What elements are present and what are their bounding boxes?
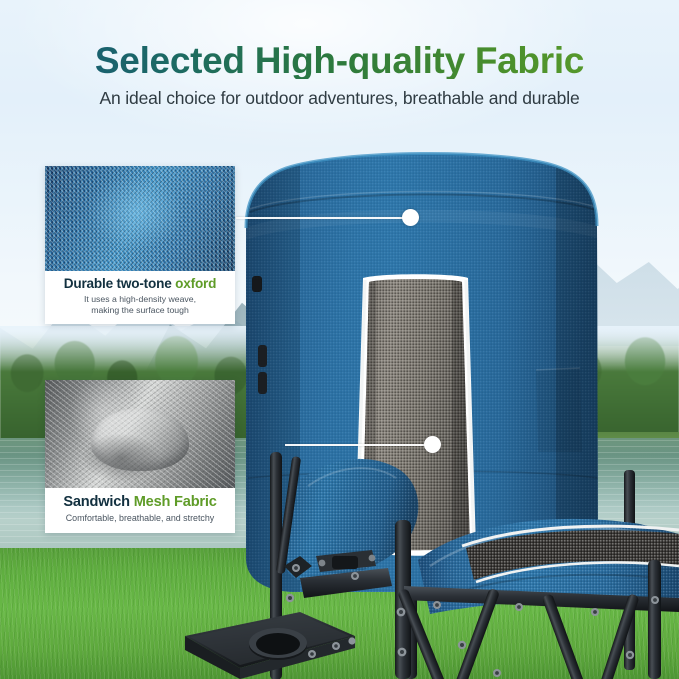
oxford-title-primary: Durable two-tone <box>64 276 172 291</box>
mesh-desc-line1: Comfortable, breathable, and stretchy <box>66 513 215 523</box>
oxford-desc-line2: making the surface tough <box>91 305 189 315</box>
mesh-title-accent: Mesh Fabric <box>134 494 217 510</box>
gray-sandwich-mesh-swatch <box>45 380 235 488</box>
feature-card-oxford-title: Durable two-tone oxford <box>51 276 229 292</box>
feature-card-oxford-caption: Durable two-tone oxford It uses a high-d… <box>45 271 235 324</box>
side-table-with-cup-holder <box>185 612 356 679</box>
feature-card-oxford[interactable]: Durable two-tone oxford It uses a high-d… <box>45 166 235 324</box>
oxford-desc-line1: It uses a high-density weave, <box>84 294 196 304</box>
feature-card-mesh[interactable]: Sandwich Mesh Fabric Comfortable, breath… <box>45 380 235 533</box>
blue-oxford-weave-swatch <box>45 166 235 271</box>
oxford-title-accent: oxford <box>175 276 216 291</box>
feature-card-mesh-title: Sandwich Mesh Fabric <box>51 494 229 511</box>
feature-card-mesh-desc: Comfortable, breathable, and stretchy <box>51 513 229 525</box>
page-title: Selected High-quality Fabric <box>0 42 679 79</box>
infographic-canvas: Selected High-quality Fabric An ideal ch… <box>0 0 679 679</box>
feature-card-oxford-desc: It uses a high-density weave, making the… <box>51 294 229 317</box>
callout-dot-oxford[interactable] <box>402 209 419 226</box>
callout-line-mesh <box>285 444 437 446</box>
page-subtitle: An ideal choice for outdoor adventures, … <box>0 88 679 109</box>
mesh-fold-highlight <box>91 408 190 471</box>
callout-dot-mesh[interactable] <box>424 436 441 453</box>
callout-line-oxford <box>236 217 414 219</box>
feature-card-mesh-caption: Sandwich Mesh Fabric Comfortable, breath… <box>45 488 235 533</box>
mesh-title-primary: Sandwich <box>63 494 130 510</box>
